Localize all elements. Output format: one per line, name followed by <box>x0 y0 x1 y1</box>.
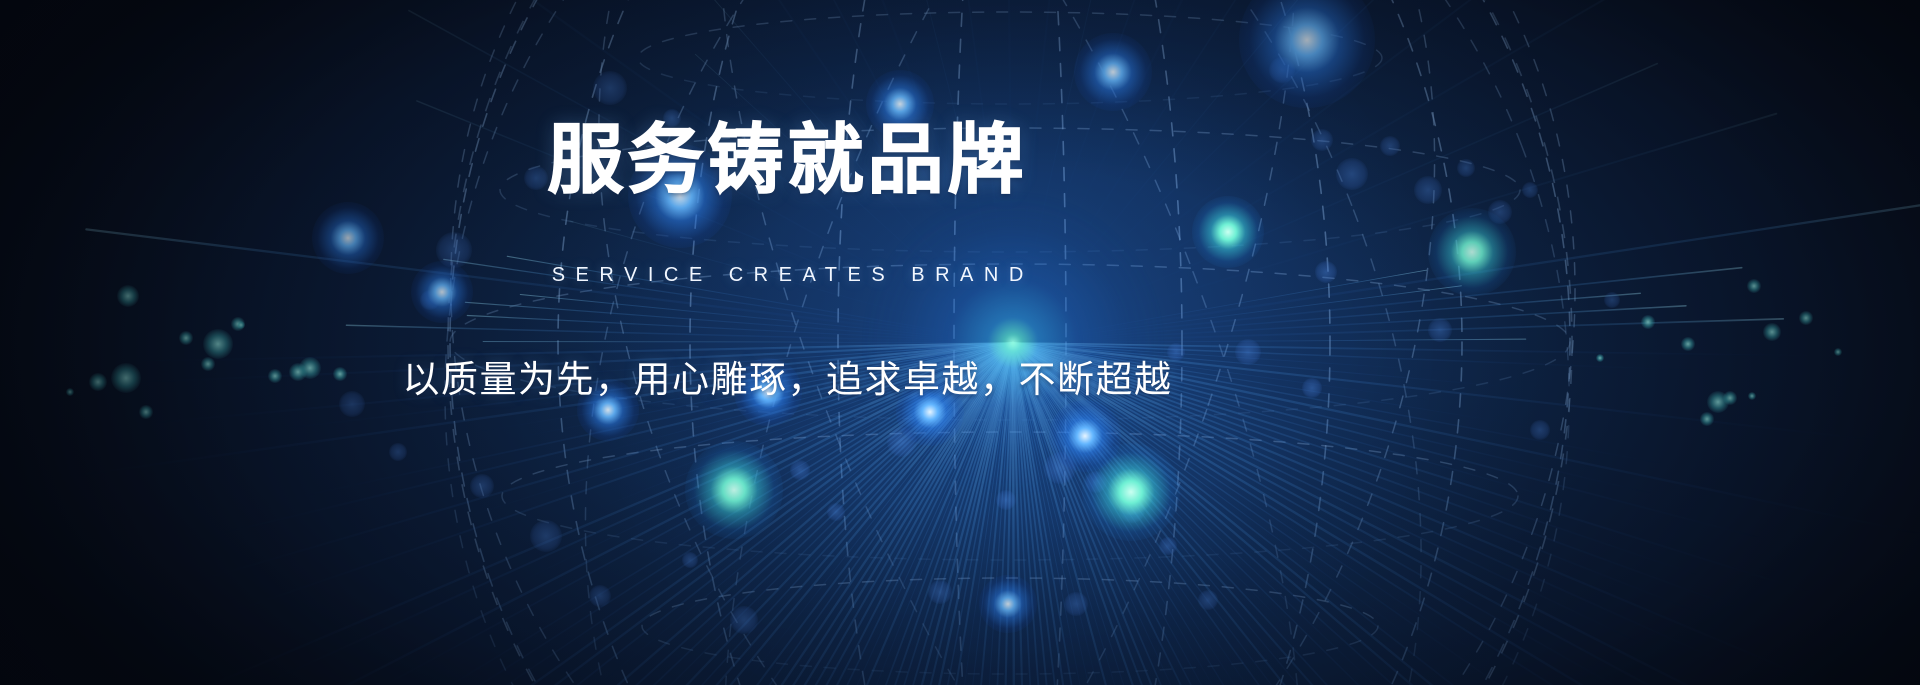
star-particle <box>1707 391 1729 413</box>
star-particle <box>1834 348 1843 357</box>
star-particle <box>1763 323 1781 341</box>
star-particle <box>1681 337 1694 350</box>
tagline: 以质量为先，用心雕琢，追求卓越，不断超越 <box>403 349 1173 403</box>
hero-text-block: 服务铸就品牌 SERVICE CREATES BRAND 以质量为先，用心雕琢，… <box>0 0 1575 685</box>
star-particle <box>1641 315 1654 328</box>
star-particle <box>1700 412 1713 425</box>
star-particle <box>1723 391 1736 404</box>
subtitle-english: SERVICE CREATES BRAND <box>541 264 1034 287</box>
star-particle <box>1799 311 1812 324</box>
page-title: 服务铸就品牌 <box>548 122 1028 200</box>
bokeh-circle <box>1604 292 1620 308</box>
star-particle <box>1596 354 1605 363</box>
hero-banner: 服务铸就品牌 SERVICE CREATES BRAND 以质量为先，用心雕琢，… <box>0 0 1920 685</box>
star-particle <box>1748 392 1757 401</box>
star-particle <box>1747 279 1760 292</box>
